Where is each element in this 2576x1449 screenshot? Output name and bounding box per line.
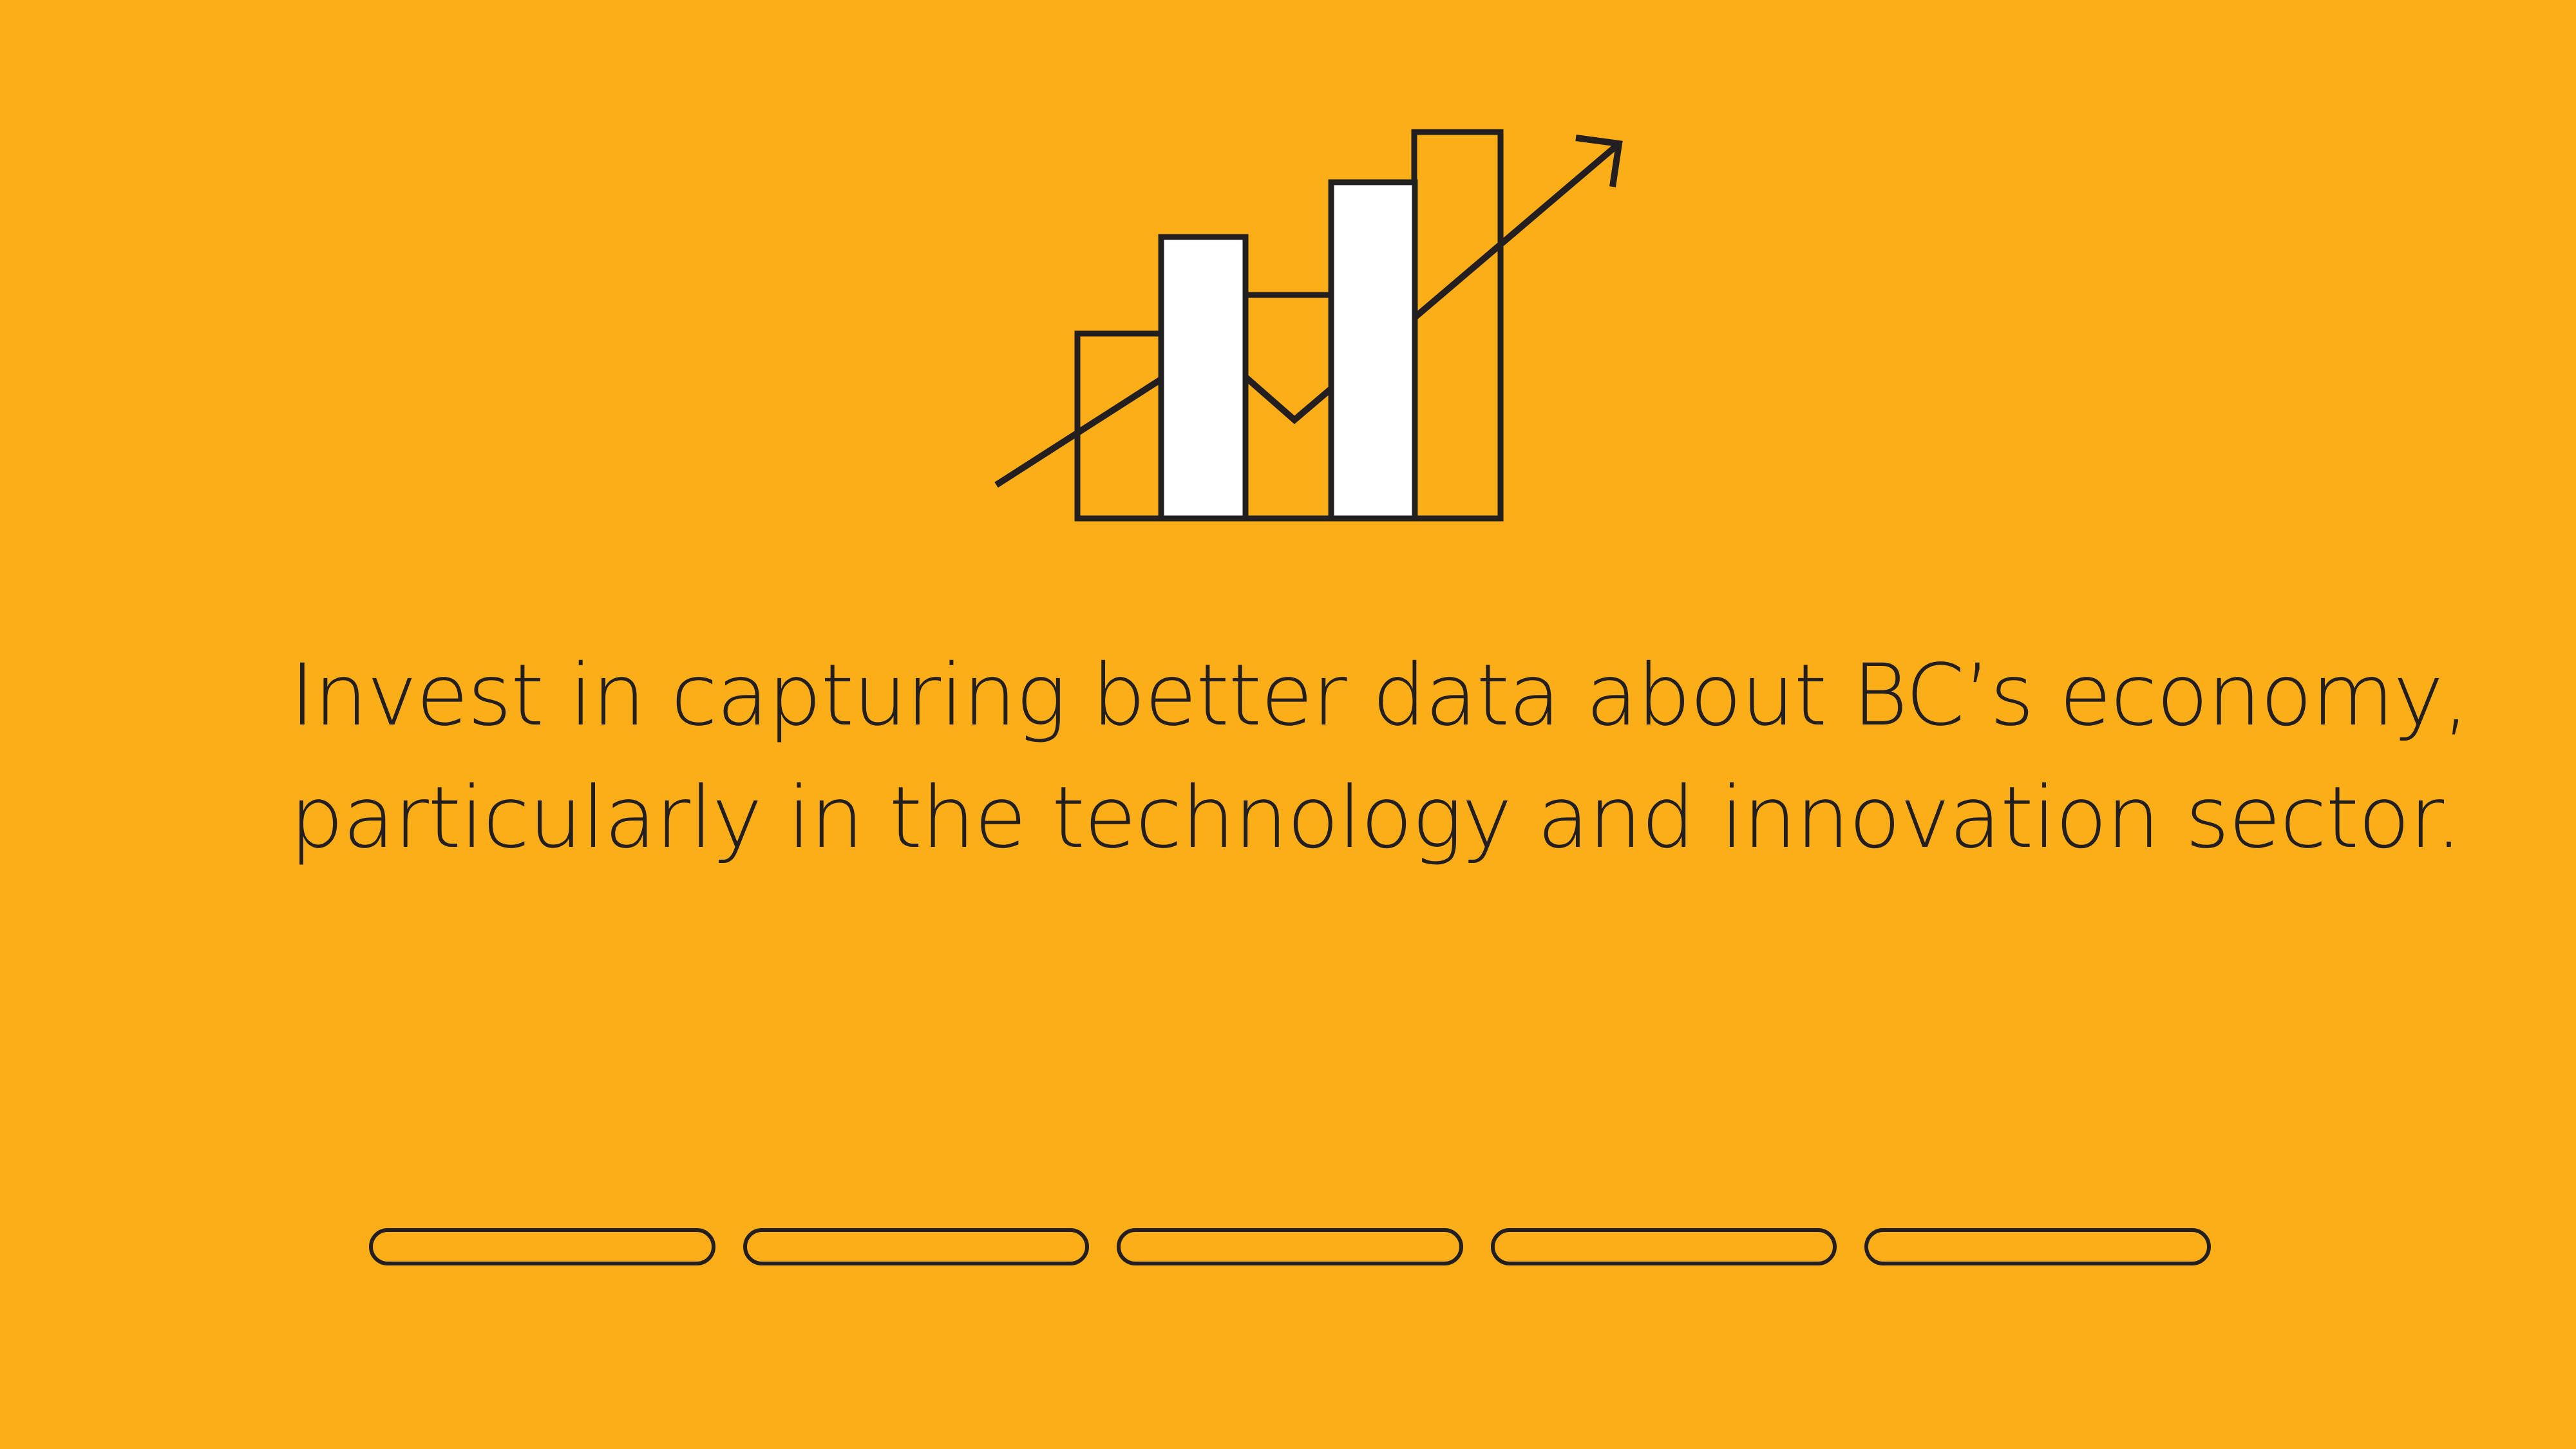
chart-bar-3	[1245, 295, 1332, 518]
headline-line-2: particularly in the technology and innov…	[290, 757, 2318, 879]
progress-pill-1[interactable]	[369, 1228, 715, 1265]
progress-pill-2[interactable]	[743, 1228, 1090, 1265]
bar-chart-svg	[966, 97, 1674, 560]
slide-root: Invest in capturing better data about BC…	[0, 0, 2576, 1449]
progress-pill-5[interactable]	[1864, 1228, 2211, 1265]
progress-pill-row	[369, 1227, 2211, 1267]
chart-bar-4	[1331, 182, 1415, 518]
chart-bar-5	[1414, 132, 1501, 518]
headline-line-1: Invest in capturing better data about BC…	[290, 634, 2318, 757]
chart-bar-2	[1161, 237, 1245, 518]
headline: Invest in capturing better data about BC…	[290, 634, 2318, 879]
progress-pill-4[interactable]	[1491, 1228, 1837, 1265]
bar-chart-growth-arrow-icon	[966, 97, 1674, 560]
progress-pill-3[interactable]	[1117, 1228, 1463, 1265]
